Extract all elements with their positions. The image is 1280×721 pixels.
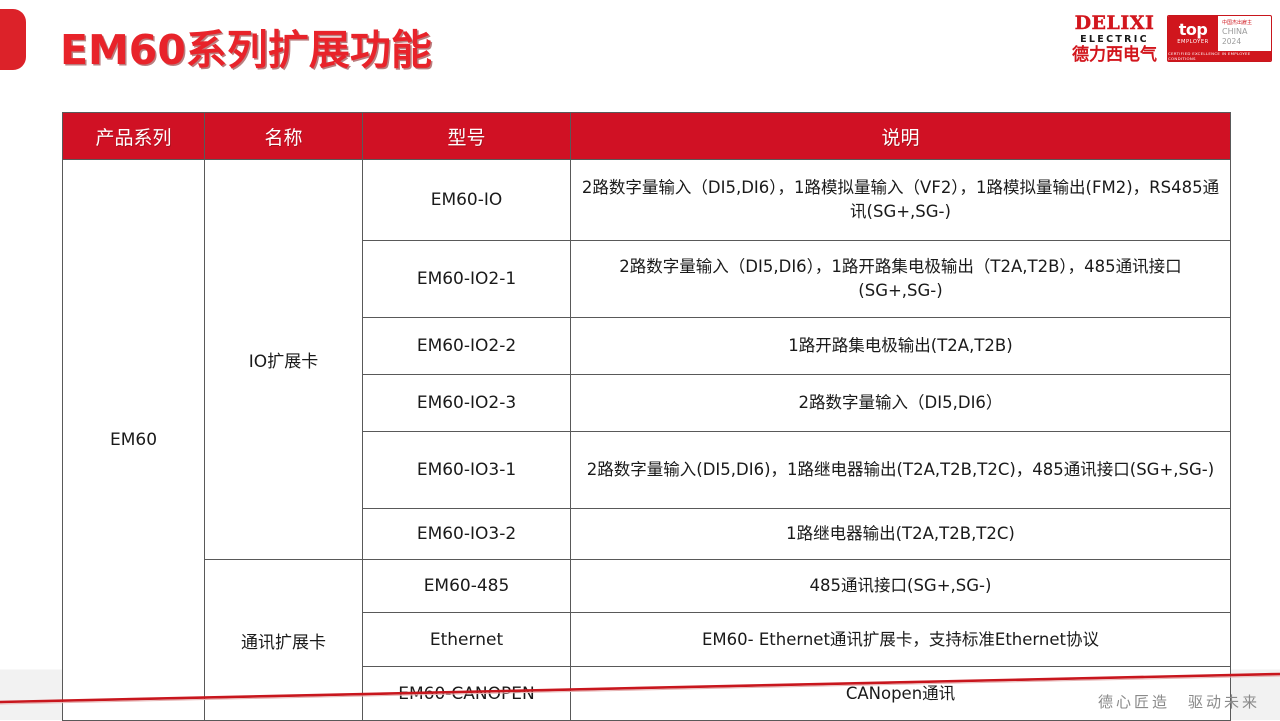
cell-model: EM60-IO3-2 — [363, 509, 571, 560]
table-row: EM60 IO扩展卡 EM60-IO 2路数字量输入（DI5,DI6），1路模拟… — [63, 160, 1231, 241]
cell-description: 2路数字量输入(DI5,DI6)，1路继电器输出(T2A,T2B,T2C)，48… — [571, 432, 1231, 509]
column-header-model: 型号 — [363, 113, 571, 160]
cell-description: 2路数字量输入（DI5,DI6） — [571, 375, 1231, 432]
delixi-logo: DELIXI ELECTRIC 德力西电气 — [1072, 14, 1157, 64]
cell-name-io-card: IO扩展卡 — [205, 160, 363, 560]
table-body: EM60 IO扩展卡 EM60-IO 2路数字量输入（DI5,DI6），1路模拟… — [63, 160, 1231, 721]
brand-logo-group: DELIXI ELECTRIC 德力西电气 top EMPLOYER 中国杰出雇… — [1072, 14, 1272, 64]
delixi-wordmark: DELIXI — [1075, 14, 1155, 33]
cell-name-comm-card: 通讯扩展卡 — [205, 560, 363, 721]
footer-tagline: 德心匠造 驱动未来 — [1098, 691, 1260, 712]
cell-model: EM60-IO2-2 — [363, 318, 571, 375]
table-header-row: 产品系列 名称 型号 说明 — [63, 113, 1231, 160]
column-header-description: 说明 — [571, 113, 1231, 160]
badge-year-label: 2024 — [1222, 37, 1271, 47]
badge-country-label: CHINA — [1222, 27, 1271, 37]
column-header-series: 产品系列 — [63, 113, 205, 160]
cell-description: 2路数字量输入（DI5,DI6），1路开路集电极输出（T2A,T2B），485通… — [571, 241, 1231, 318]
cell-description: 1路继电器输出(T2A,T2B,T2C) — [571, 509, 1231, 560]
cell-model: EM60-IO2-1 — [363, 241, 571, 318]
cell-model: EM60-CANOPEN — [363, 667, 571, 721]
cell-model: EM60-485 — [363, 560, 571, 613]
column-header-name: 名称 — [205, 113, 363, 160]
cell-model: EM60-IO — [363, 160, 571, 241]
cell-series-em60: EM60 — [63, 160, 205, 721]
expansion-spec-table: 产品系列 名称 型号 说明 EM60 IO扩展卡 EM60-IO 2路数字量输入… — [62, 112, 1231, 721]
title-accent-bar — [0, 9, 26, 70]
badge-main: top EMPLOYER 中国杰出雇主 CHINA 2024 — [1168, 16, 1271, 51]
cell-description: 1路开路集电极输出(T2A,T2B) — [571, 318, 1231, 375]
slide-root: EM60系列扩展功能 DELIXI ELECTRIC 德力西电气 top EMP… — [0, 0, 1280, 720]
top-employer-badge: top EMPLOYER 中国杰出雇主 CHINA 2024 CERTIFIED… — [1167, 15, 1272, 62]
page-title: EM60系列扩展功能 — [60, 16, 432, 76]
cell-description: EM60- Ethernet通讯扩展卡，支持标准Ethernet协议 — [571, 613, 1231, 667]
badge-certification-label: CERTIFIED EXCELLENCE IN EMPLOYEE CONDITI… — [1168, 51, 1271, 61]
cell-description: 485通讯接口(SG+,SG-) — [571, 560, 1231, 613]
badge-right-panel: 中国杰出雇主 CHINA 2024 — [1218, 16, 1271, 51]
delixi-chinese-name: 德力西电气 — [1072, 47, 1157, 64]
badge-employer-label: EMPLOYER — [1177, 39, 1208, 45]
cell-model: EM60-IO3-1 — [363, 432, 571, 509]
table-row: 通讯扩展卡 EM60-485 485通讯接口(SG+,SG-) — [63, 560, 1231, 613]
cell-model: Ethernet — [363, 613, 571, 667]
cell-model: EM60-IO2-3 — [363, 375, 571, 432]
cell-description: 2路数字量输入（DI5,DI6），1路模拟量输入（VF2），1路模拟量输出(FM… — [571, 160, 1231, 241]
badge-top-label: top — [1179, 22, 1208, 38]
delixi-subtitle: ELECTRIC — [1080, 35, 1149, 45]
badge-left-panel: top EMPLOYER — [1168, 16, 1218, 51]
